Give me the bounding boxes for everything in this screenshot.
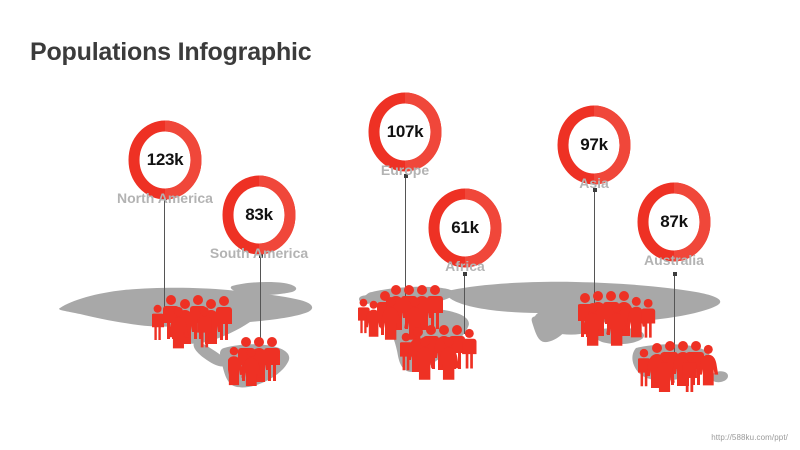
badge-value-africa: 61k <box>428 188 502 268</box>
badge-south-america[interactable]: 83k South America <box>222 175 296 255</box>
badge-asia[interactable]: 97k Asia <box>557 105 631 185</box>
badge-europe[interactable]: 107k Europe <box>368 92 442 172</box>
badge-north-america[interactable]: 123k North America <box>128 120 202 200</box>
infographic-slide: Populations Infographic <box>0 0 800 450</box>
badge-label-south-america: South America <box>210 245 308 261</box>
donut-ring-australia: 87k <box>637 182 711 262</box>
badge-label-asia: Asia <box>579 175 609 191</box>
people-cluster-africa <box>400 322 486 380</box>
badge-value-south-america: 83k <box>222 175 296 255</box>
connector-south-america <box>260 256 261 346</box>
badge-value-asia: 97k <box>557 105 631 185</box>
people-cluster-south-america <box>228 334 284 386</box>
people-cluster-australia <box>638 338 728 392</box>
donut-ring-africa: 61k <box>428 188 502 268</box>
badge-label-australia: Australia <box>644 252 704 268</box>
donut-ring-asia: 97k <box>557 105 631 185</box>
badge-label-africa: Africa <box>445 258 485 274</box>
badge-value-north-america: 123k <box>128 120 202 200</box>
badge-australia[interactable]: 87k Australia <box>637 182 711 262</box>
badge-label-europe: Europe <box>381 162 429 178</box>
badge-label-north-america: North America <box>117 190 213 206</box>
badge-africa[interactable]: 61k Africa <box>428 188 502 268</box>
donut-ring-europe: 107k <box>368 92 442 172</box>
badge-value-europe: 107k <box>368 92 442 172</box>
badge-value-australia: 87k <box>637 182 711 262</box>
connector-europe <box>405 176 406 296</box>
watermark-url: http://588ku.com/ppt/ <box>711 433 788 442</box>
donut-ring-south-america: 83k <box>222 175 296 255</box>
page-title: Populations Infographic <box>30 38 312 67</box>
donut-ring-north-america: 123k <box>128 120 202 200</box>
